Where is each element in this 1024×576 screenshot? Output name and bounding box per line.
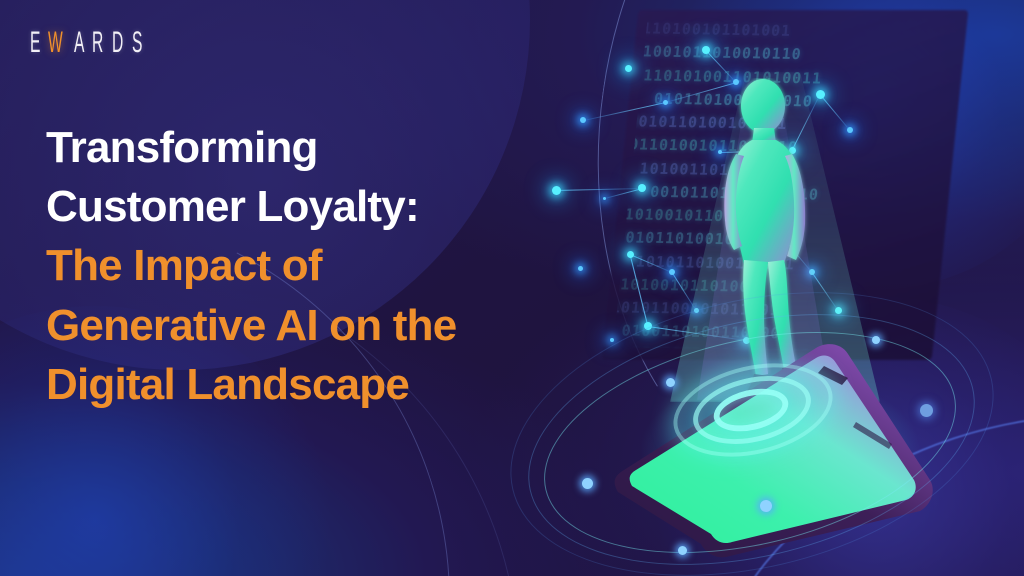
logo-letter-d: D <box>112 28 126 58</box>
logo-letter-r: R <box>92 28 106 58</box>
network-node <box>702 46 710 54</box>
headline-line-4: Generative AI on the <box>46 296 606 355</box>
logo-letter-w: W <box>48 28 66 58</box>
orbit-dot-3 <box>760 500 772 512</box>
logo-letter-s: S <box>132 28 146 58</box>
network-node <box>638 184 646 192</box>
headline-line-5: Digital Landscape <box>46 355 606 414</box>
network-node <box>663 100 668 105</box>
orbit-dot-5 <box>920 404 933 417</box>
orbit-dot-4 <box>678 546 687 555</box>
network-node <box>627 251 634 258</box>
headline-line-1: Transforming <box>46 118 606 177</box>
promo-banner: E W A R D S Transforming Customer Loyalt… <box>0 0 1024 576</box>
network-node <box>625 65 632 72</box>
orbit-dot-2 <box>582 478 593 489</box>
headline-block: Transforming Customer Loyalty: The Impac… <box>46 118 606 414</box>
orbit-dot-6 <box>872 336 880 344</box>
logo-letter-e: E <box>30 28 44 58</box>
network-node <box>669 269 675 275</box>
logo-letter-a: A <box>74 28 88 58</box>
orbit-dot-1 <box>666 378 675 387</box>
brand-logo[interactable]: E W A R D S <box>30 28 150 58</box>
network-link <box>630 254 672 273</box>
network-node <box>847 127 853 133</box>
network-link <box>629 254 648 326</box>
headline-line-2: Customer Loyalty: <box>46 177 606 236</box>
headline-line-3: The Impact of <box>46 236 606 295</box>
